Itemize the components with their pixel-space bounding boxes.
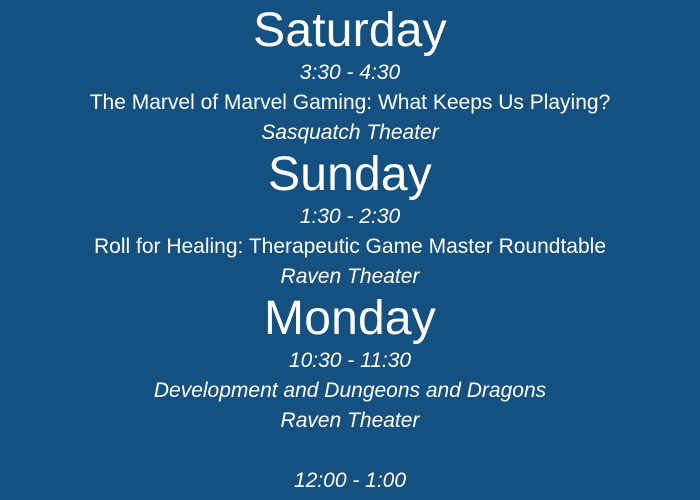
day-heading: Sunday bbox=[0, 148, 700, 202]
schedule-board: Saturday3:30 - 4:30The Marvel of Marvel … bbox=[0, 0, 700, 500]
session-time: 3:30 - 4:30 bbox=[0, 58, 700, 88]
session-time: 1:30 - 2:30 bbox=[0, 202, 700, 232]
session-entry: 1:30 - 2:30Roll for Healing: Therapeutic… bbox=[0, 202, 700, 292]
session-title: Development and Dungeons and Dragons bbox=[0, 376, 700, 406]
session-time: 10:30 - 11:30 bbox=[0, 346, 700, 376]
session-title: The Marvel of Marvel Gaming: What Keeps … bbox=[0, 88, 700, 118]
day-heading: Monday bbox=[0, 292, 700, 346]
session-time: 12:00 - 1:00 bbox=[0, 466, 700, 496]
session-title: Roll for Healing: Therapeutic Game Maste… bbox=[0, 232, 700, 262]
day-heading: Saturday bbox=[0, 4, 700, 58]
session-spacer bbox=[0, 436, 700, 466]
session-entry: 3:30 - 4:30The Marvel of Marvel Gaming: … bbox=[0, 58, 700, 148]
day-block: Saturday3:30 - 4:30The Marvel of Marvel … bbox=[0, 4, 700, 148]
session-venue: Raven Theater bbox=[0, 406, 700, 436]
day-block: Sunday1:30 - 2:30Roll for Healing: Thera… bbox=[0, 148, 700, 292]
session-entry: 12:00 - 1:00 bbox=[0, 466, 700, 496]
session-venue: Sasquatch Theater bbox=[0, 118, 700, 148]
session-venue: Raven Theater bbox=[0, 262, 700, 292]
day-block: Monday10:30 - 11:30Development and Dunge… bbox=[0, 292, 700, 496]
session-entry: 10:30 - 11:30Development and Dungeons an… bbox=[0, 346, 700, 436]
